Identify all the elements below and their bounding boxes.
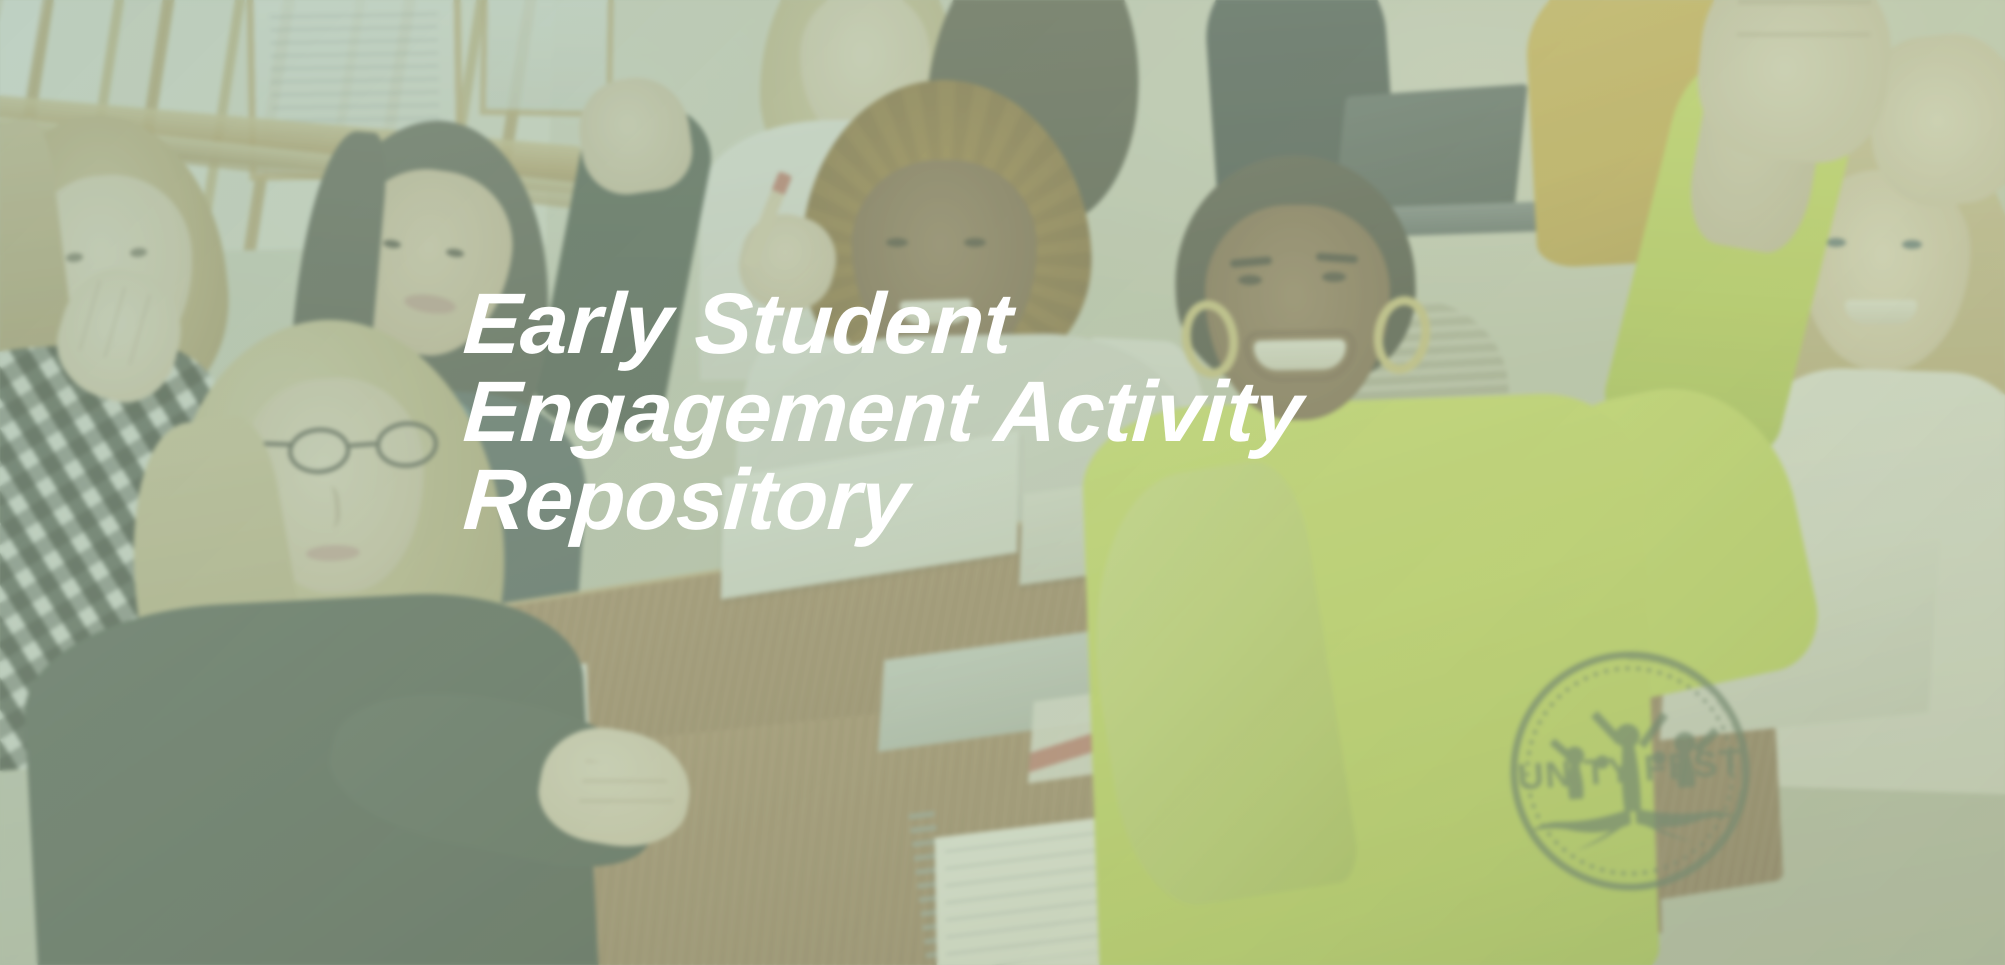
eyeglasses-lens-left — [287, 426, 352, 476]
student-center-eye-right — [964, 238, 986, 247]
unity-fest-logo: UNITY FEST · CELEBRATE DIVERSITY · UNITY… — [1486, 627, 1774, 915]
student-right-smile — [1845, 300, 1917, 324]
svg-text:UNITY FEST: UNITY FEST — [1516, 741, 1744, 798]
student-right-eye-right — [1902, 240, 1922, 249]
eyeglasses-lens-right — [374, 420, 439, 470]
student-right-eye-left — [1826, 238, 1846, 247]
wall-poster-secondary — [486, 0, 608, 111]
eyeglasses-bridge — [350, 442, 376, 448]
hero-banner: UNITY FEST · CELEBRATE DIVERSITY · UNITY… — [0, 0, 2005, 965]
hero-title: Early Student Engagement Activity Reposi… — [464, 280, 1644, 544]
hero-title-line-3: Repository — [461, 456, 1647, 544]
student-center-eye-left — [886, 238, 908, 247]
hero-title-line-2: Engagement Activity — [461, 368, 1647, 456]
hero-title-line-1: Early Student — [461, 280, 1647, 368]
